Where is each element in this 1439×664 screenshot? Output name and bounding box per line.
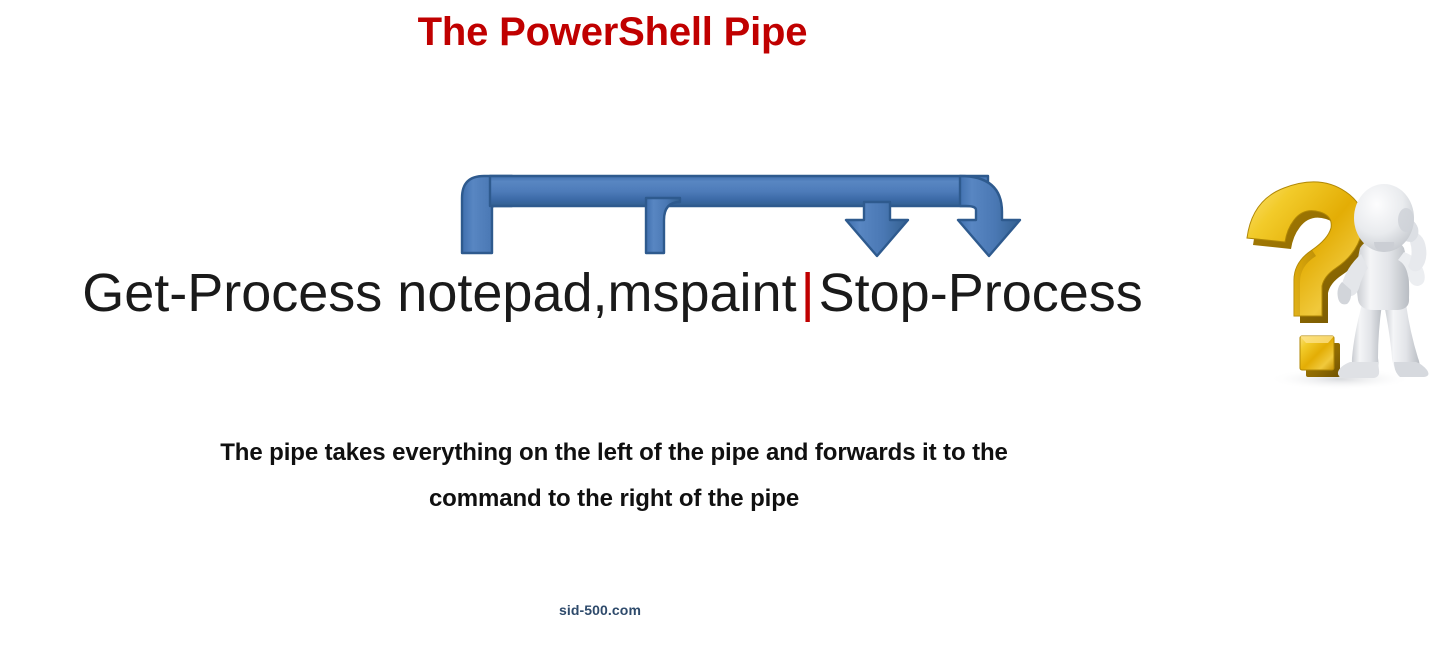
site-watermark: sid-500.com xyxy=(0,602,1200,618)
figure-right-leg xyxy=(1384,304,1420,371)
pipe-flow-diagram xyxy=(452,158,1032,258)
pipe-character: | xyxy=(797,263,819,323)
pipe-flow-arrow-icon xyxy=(452,158,1032,258)
question-mark-illustration xyxy=(1228,176,1439,390)
figure-left-leg xyxy=(1352,304,1382,371)
question-mark-icon xyxy=(1228,176,1439,390)
figure-ear xyxy=(1398,208,1414,232)
explanation-caption: The pipe takes everything on the left of… xyxy=(58,430,1170,522)
slide-canvas: The PowerShell Pipe xyxy=(0,0,1439,664)
pipe-arrow-branch-2 xyxy=(958,176,1020,256)
pipe-arrow-branch-1 xyxy=(846,202,908,256)
caption-line-1: The pipe takes everything on the left of… xyxy=(58,430,1170,476)
page-title: The PowerShell Pipe xyxy=(0,8,1225,56)
caption-line-2: command to the right of the pipe xyxy=(58,476,1170,522)
figure-left-foot xyxy=(1338,362,1379,378)
pipe-main-bar xyxy=(490,176,988,206)
command-left-side: Get-Process notepad,mspaint xyxy=(82,263,796,323)
powershell-command: Get-Process notepad,mspaint|Stop-Process xyxy=(0,262,1225,324)
figure-right-foot xyxy=(1394,362,1428,377)
command-right-side: Stop-Process xyxy=(819,263,1143,323)
